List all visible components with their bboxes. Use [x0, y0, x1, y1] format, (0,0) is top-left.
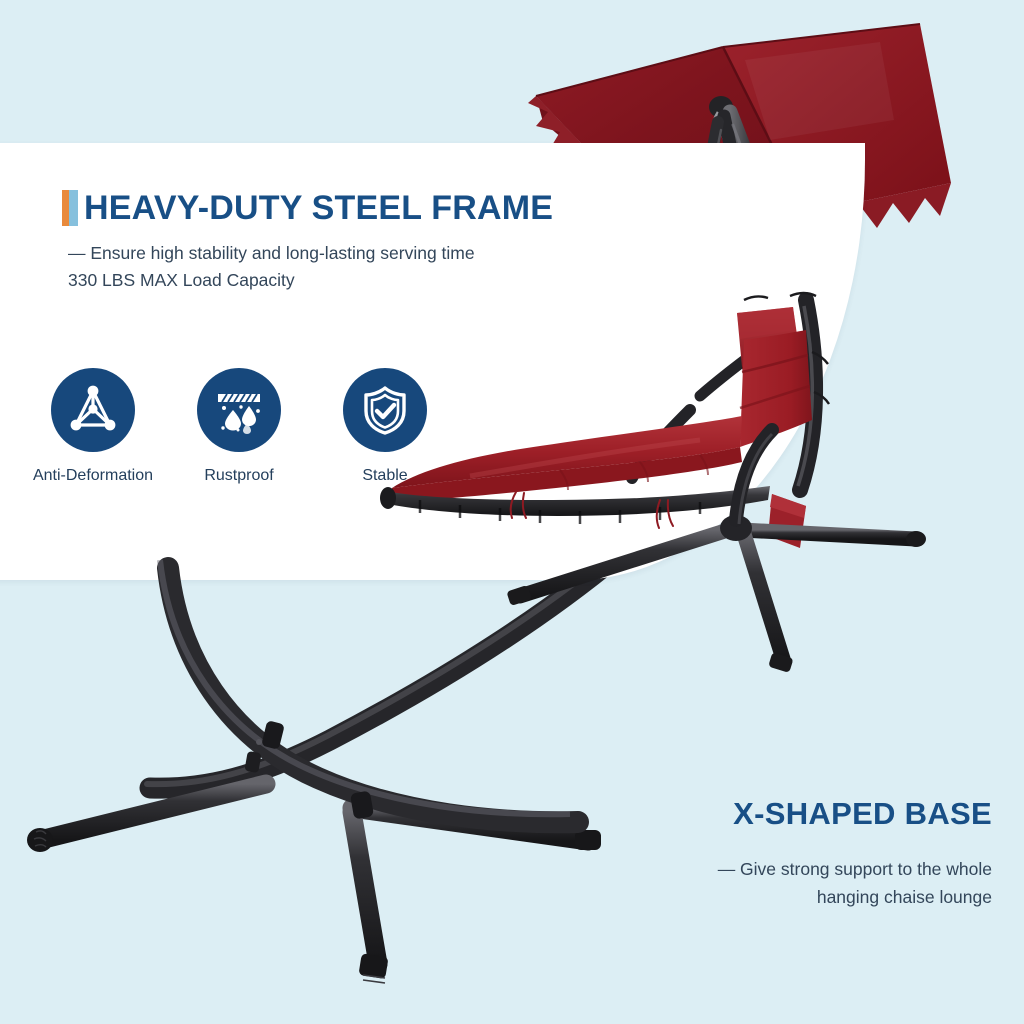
base-section-subtext: — Give strong support to the whole hangi…: [718, 855, 992, 911]
x-shaped-base: [27, 560, 601, 983]
accent-blue-stripe: [69, 190, 78, 226]
heading-subtext: — Ensure high stability and long-lasting…: [68, 240, 475, 294]
feature-stable: Stable: [312, 368, 458, 485]
infographic-canvas: HEAVY-DUTY STEEL FRAME — Ensure high sta…: [0, 0, 1024, 1024]
heading-block: HEAVY-DUTY STEEL FRAME: [62, 190, 553, 226]
shield-check-icon: [357, 382, 413, 438]
tripod-frame-icon: [65, 382, 121, 438]
base-subtext-line-1: — Give strong support to the whole: [718, 855, 992, 883]
feature-icon-circle: [51, 368, 135, 452]
base-section-title: X-SHAPED BASE: [733, 796, 992, 832]
canopy-hub: [709, 96, 734, 148]
subtext-line-1: — Ensure high stability and long-lasting…: [68, 243, 475, 263]
feature-icon-circle: [197, 368, 281, 452]
feature-list: Anti-Deformation: [20, 368, 460, 485]
feature-rustproof: Rustproof: [166, 368, 312, 485]
subtext-line-2: 330 LBS MAX Load Capacity: [68, 267, 475, 294]
page-title: HEAVY-DUTY STEEL FRAME: [84, 190, 553, 226]
feature-label: Rustproof: [204, 467, 273, 485]
heading-accent-bar: [62, 190, 78, 226]
feature-label: Stable: [362, 467, 407, 485]
side-pocket: [768, 494, 806, 548]
feature-label: Anti-Deformation: [33, 467, 153, 485]
water-droplets-icon: [211, 382, 267, 438]
feature-anti-deformation: Anti-Deformation: [20, 368, 166, 485]
feature-icon-circle: [343, 368, 427, 452]
base-subtext-line-2: hanging chaise lounge: [718, 883, 992, 911]
accent-orange-stripe: [62, 190, 69, 226]
